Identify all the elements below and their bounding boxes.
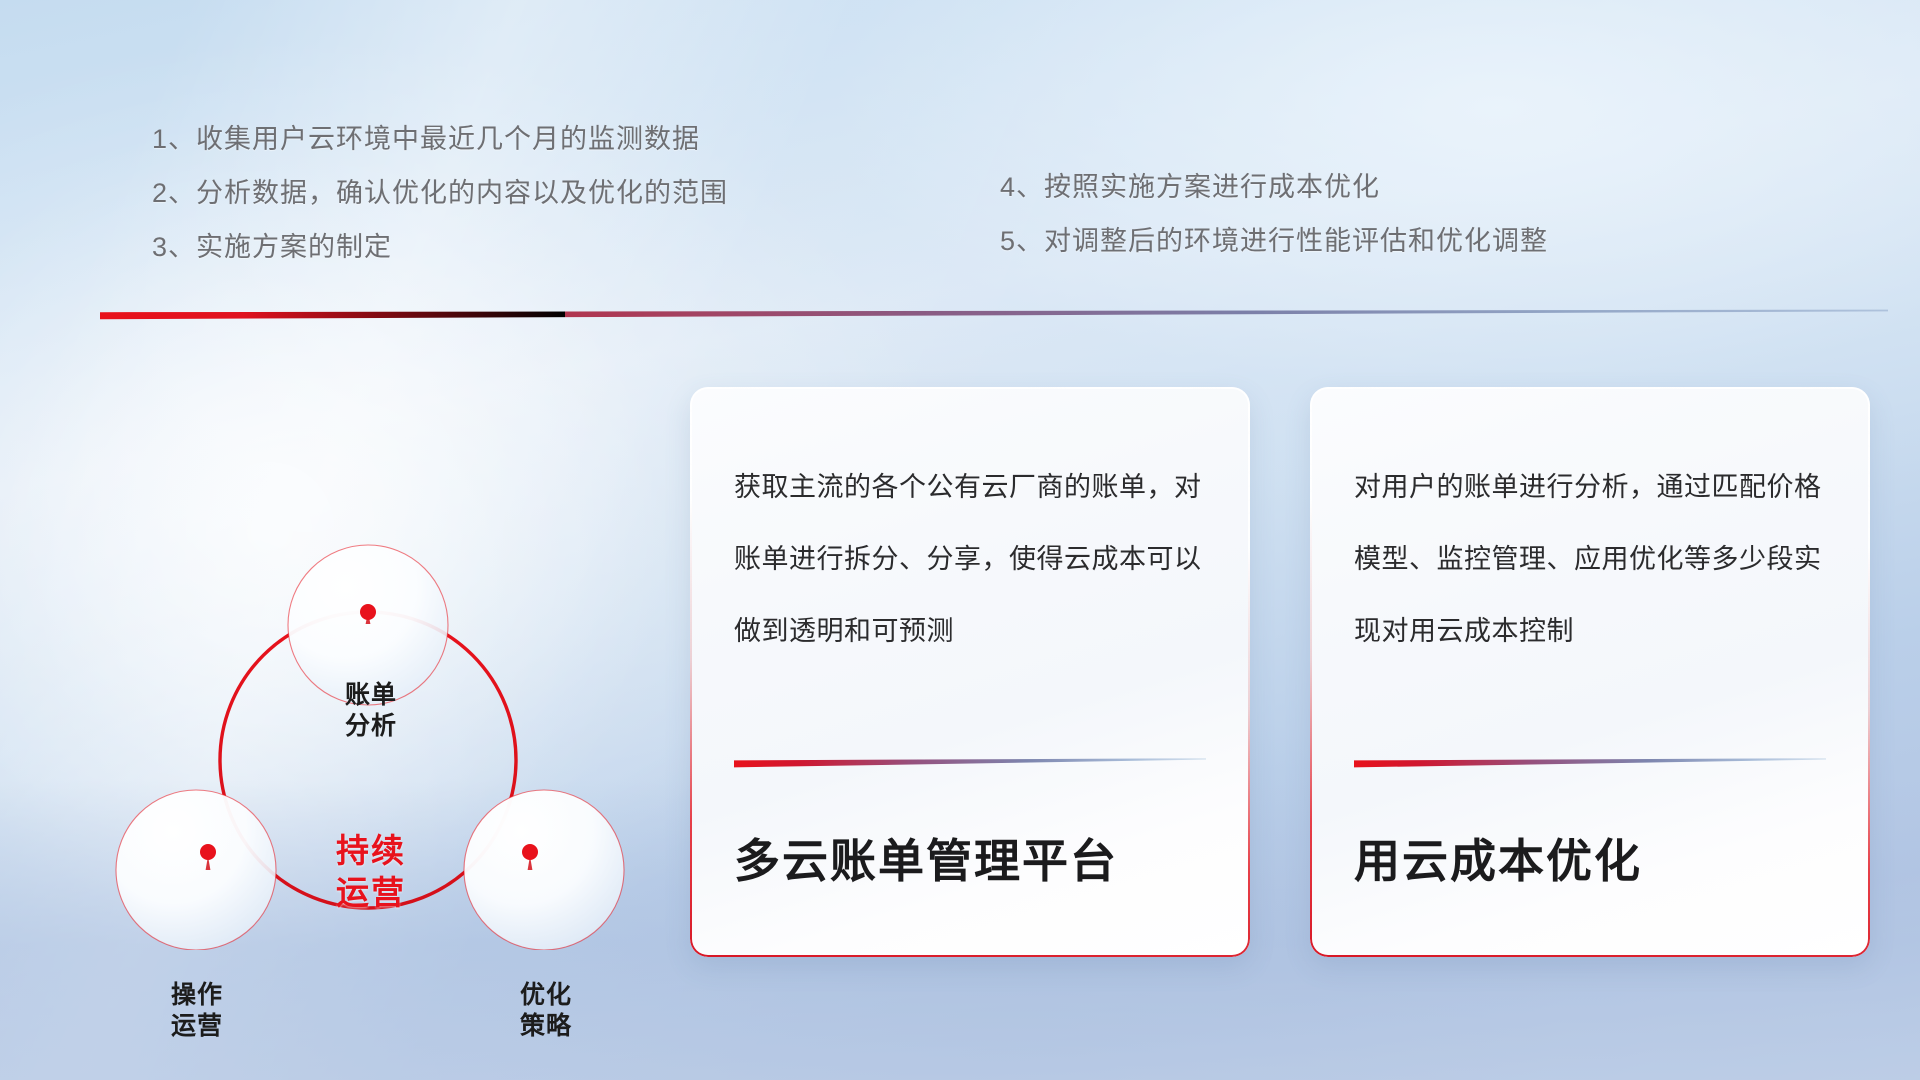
step-item: 4、按照实施方案进行成本优化 [1000,160,1548,214]
steps-left-column: 1、收集用户云环境中最近几个月的监测数据 2、分析数据，确认优化的内容以及优化的… [152,112,728,274]
card-divider [1354,755,1826,769]
section-divider-rule [100,305,1888,321]
node-bubble-operations[interactable] [116,790,276,950]
card-divider-line-icon [1354,755,1826,769]
step-item: 2、分析数据，确认优化的内容以及优化的范围 [152,166,728,220]
node-bubble-optimization-strategy[interactable] [464,790,624,950]
diagram-svg [96,350,656,950]
node-bubble-billing-analysis[interactable] [288,545,448,705]
continuous-operation-diagram: 账单 分析 操作 运营 优化 策略 持续 运营 [96,350,656,950]
card-cloud-cost-optimization[interactable]: 对用户的账单进行分析，通过匹配价格模型、监控管理、应用优化等多少段实现对用云成本… [1310,387,1870,957]
divider-line-icon [100,305,1888,321]
steps-right-column: 4、按照实施方案进行成本优化 5、对调整后的环境进行性能评估和优化调整 [1000,160,1548,268]
card-divider-line-icon [734,755,1206,769]
card-description: 获取主流的各个公有云厂商的账单，对账单进行拆分、分享，使得云成本可以做到透明和可… [734,451,1206,667]
step-item: 3、实施方案的制定 [152,220,728,274]
card-title: 多云账单管理平台 [734,769,1206,957]
step-item: 5、对调整后的环境进行性能评估和优化调整 [1000,214,1548,268]
card-multicloud-billing-platform[interactable]: 获取主流的各个公有云厂商的账单，对账单进行拆分、分享，使得云成本可以做到透明和可… [690,387,1250,957]
card-title: 用云成本优化 [1354,769,1826,957]
step-item: 1、收集用户云环境中最近几个月的监测数据 [152,112,728,166]
card-description: 对用户的账单进行分析，通过匹配价格模型、监控管理、应用优化等多少段实现对用云成本… [1354,451,1826,667]
card-divider [734,755,1206,769]
feature-cards: 获取主流的各个公有云厂商的账单，对账单进行拆分、分享，使得云成本可以做到透明和可… [690,387,1870,957]
